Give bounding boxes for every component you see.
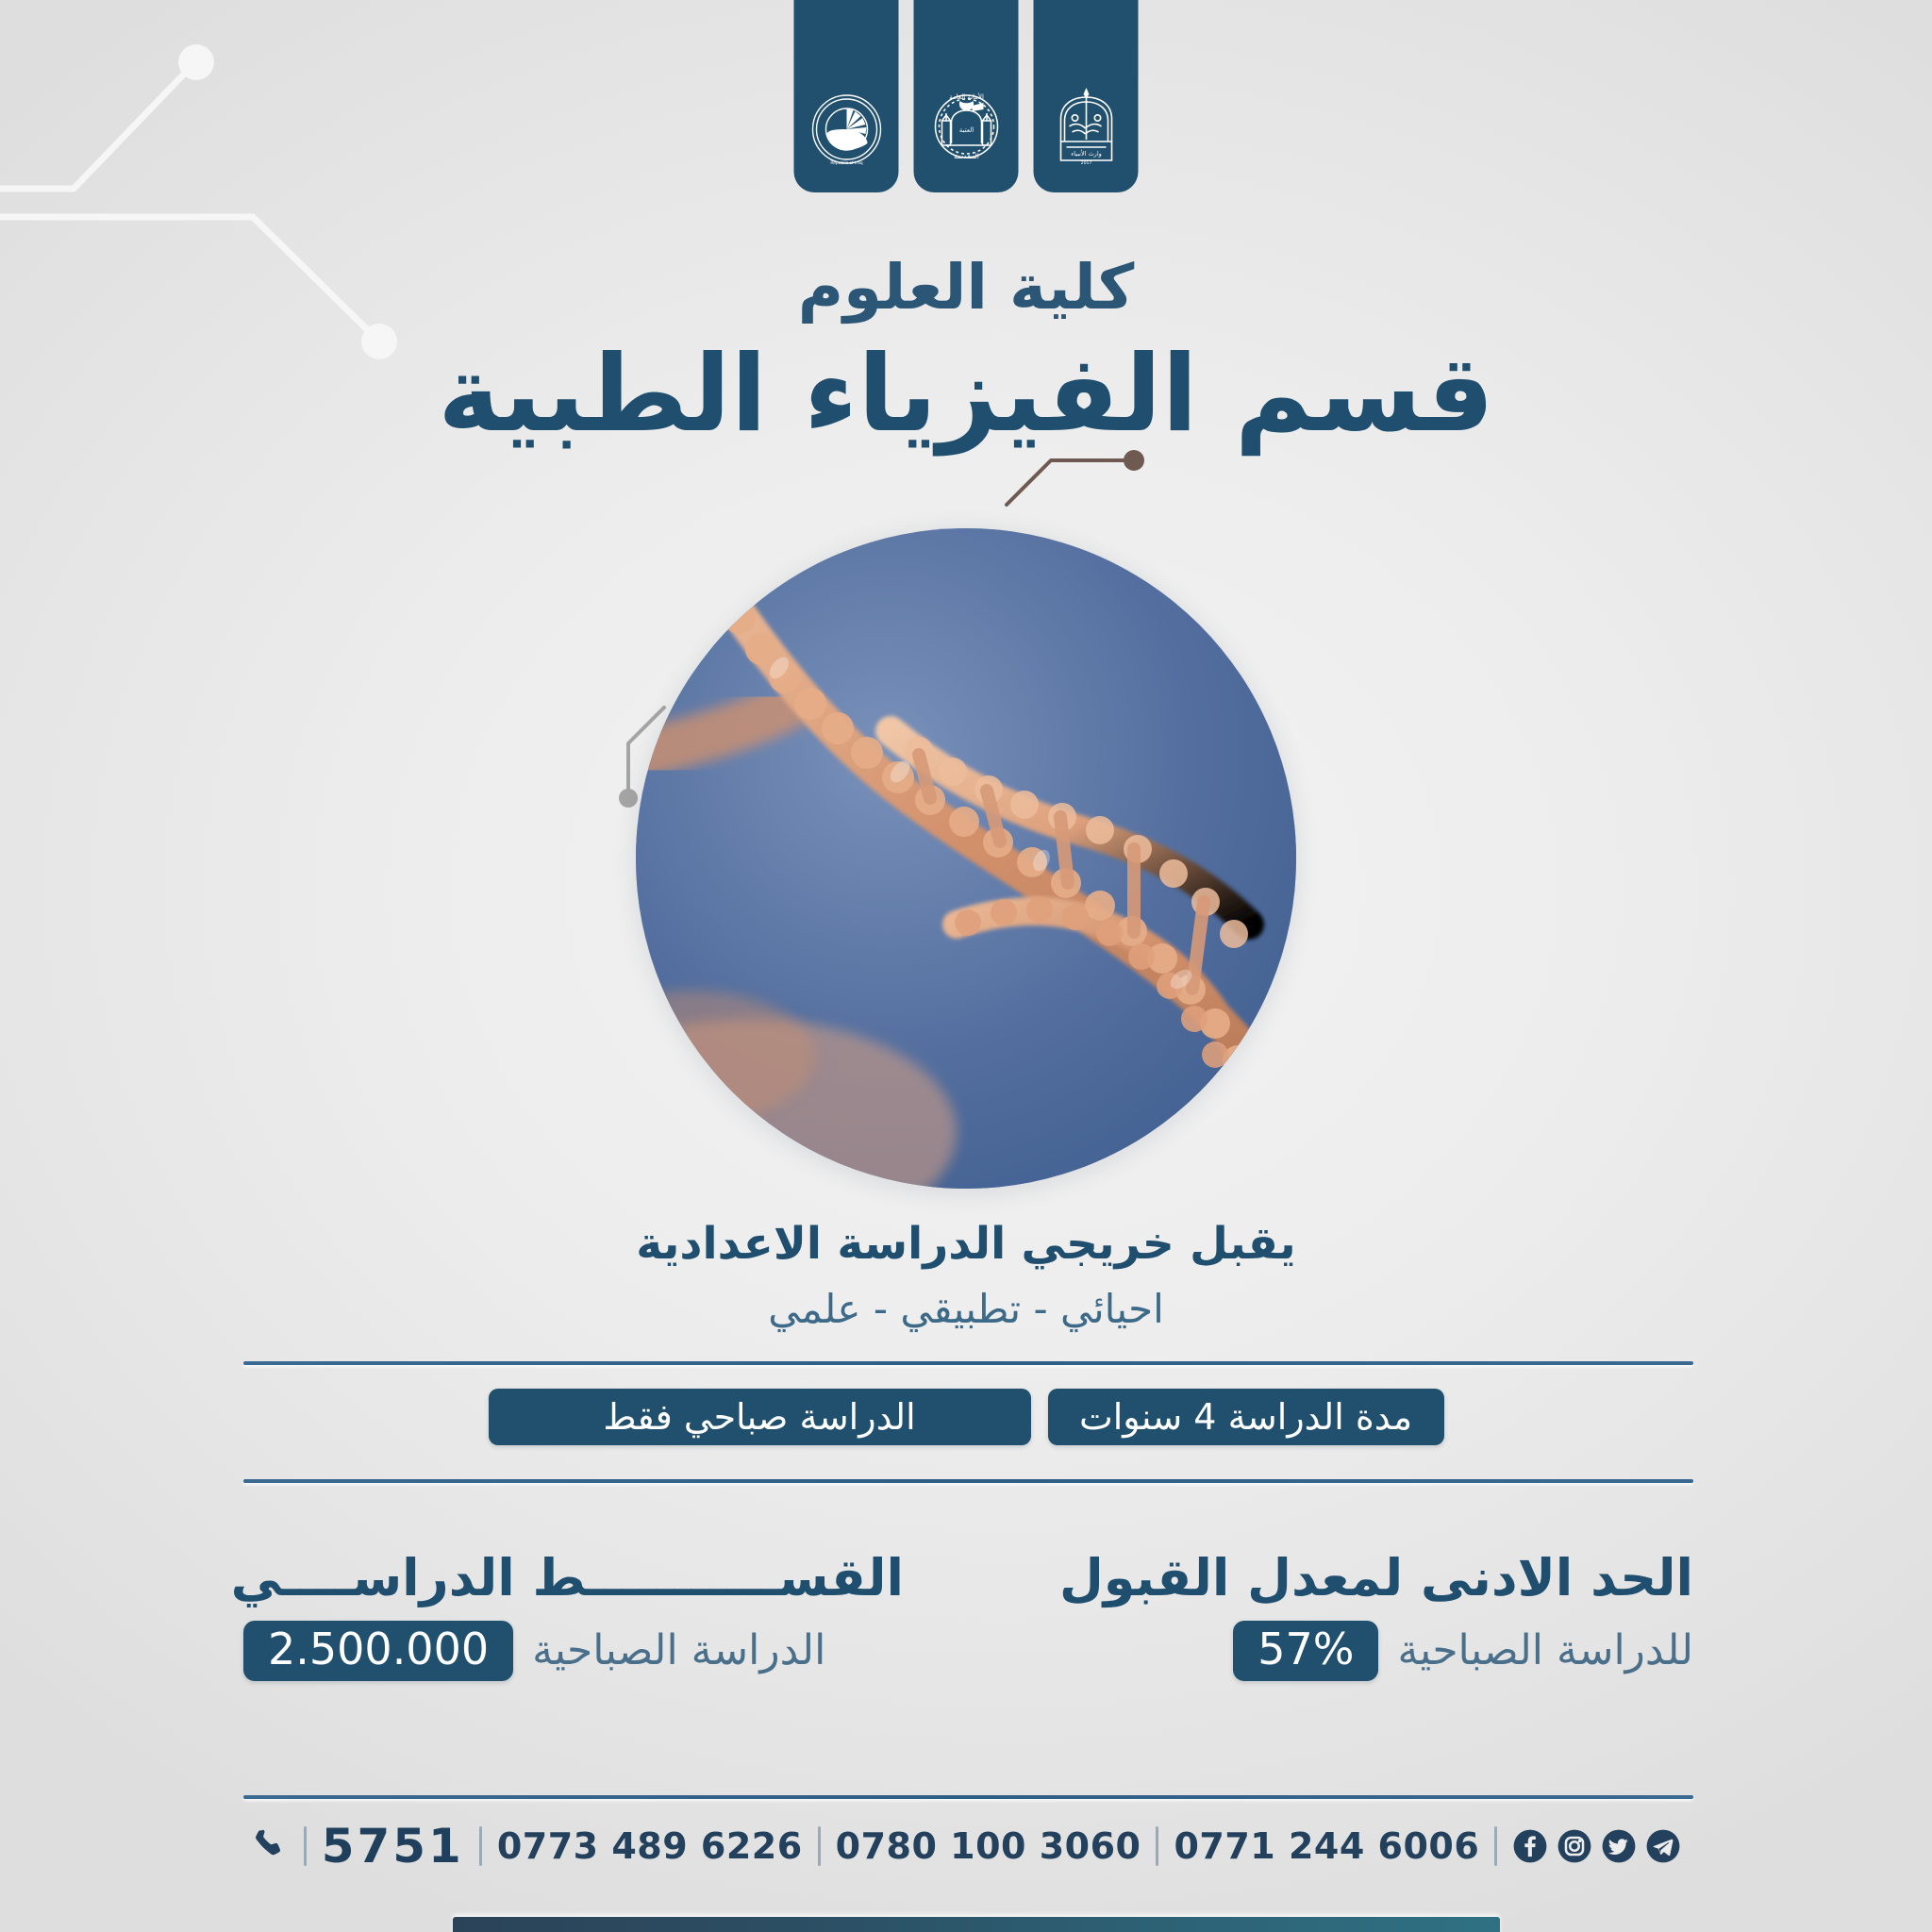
- accepts-branches: احيائي - تطبيقي - علمي: [0, 1290, 1932, 1329]
- tuition-label: الدراسة الصباحية: [532, 1626, 825, 1674]
- svg-text:العتبة: العتبة: [958, 126, 973, 134]
- logo-badge-university: وارث الأنبياء 2017: [1034, 0, 1139, 192]
- min-average-line: للدراسة الصباحية 57%: [1033, 1621, 1693, 1682]
- min-average-title: الحد الادنى لمعدل القبول: [1033, 1552, 1693, 1606]
- department-name: قسم الفيزياء الطبية: [0, 340, 1932, 451]
- phone-number[interactable]: 0771 244 6006: [1174, 1825, 1479, 1867]
- morning-study-only-pill[interactable]: الدراسة صباحي فقط: [489, 1389, 1031, 1445]
- svg-text:2017: 2017: [1080, 160, 1091, 166]
- contact-separator: [1156, 1826, 1158, 1866]
- svg-text:Republic of Iraq: Republic of Iraq: [830, 160, 863, 166]
- logo-badge-ataba: العتبة المقدسة الأمانة العامة: [914, 0, 1019, 192]
- ministry-of-higher-education-iraq-logo: Republic of Iraq: [808, 91, 884, 168]
- logo-bar: وارث الأنبياء 2017: [794, 0, 1139, 192]
- tuition-line: الدراسة الصباحية 2.500.000: [243, 1621, 904, 1682]
- instagram-icon[interactable]: [1557, 1828, 1592, 1864]
- pill-row: مدة الدراسة 4 سنوات الدراسة صباحي فقط: [0, 1389, 1932, 1445]
- divider-middle: [243, 1479, 1693, 1483]
- facebook-icon[interactable]: [1512, 1828, 1548, 1864]
- decorative-circuit-lines: [0, 0, 491, 396]
- logo-badge-ministry: Republic of Iraq: [794, 0, 899, 192]
- phone-number[interactable]: 0780 100 3060: [836, 1825, 1141, 1867]
- contact-separator: [479, 1826, 482, 1866]
- svg-text:المقدسة: المقدسة: [954, 152, 979, 160]
- divider-bottom: [243, 1795, 1693, 1799]
- twitter-icon[interactable]: [1601, 1828, 1637, 1864]
- min-average-block: الحد الادنى لمعدل القبول للدراسة الصباحي…: [1033, 1552, 1693, 1681]
- phone-icon: [251, 1825, 289, 1867]
- min-average-value-badge: 57%: [1233, 1621, 1378, 1682]
- college-name: كلية العلوم: [0, 257, 1932, 319]
- hotline-number[interactable]: 5751: [322, 1819, 464, 1874]
- accepts-heading: يقبل خريجي الدراسة الاعدادية: [0, 1222, 1932, 1266]
- footer-accent-bar: [453, 1917, 1500, 1932]
- tuition-value-badge: 2.500.000: [243, 1621, 513, 1682]
- svg-text:الأمانة العامة: الأمانة العامة: [949, 92, 984, 101]
- contact-separator: [1494, 1826, 1497, 1866]
- university-of-warith-al-anbiya-logo: وارث الأنبياء 2017: [1051, 85, 1121, 168]
- hero-image-area: [636, 528, 1296, 1189]
- tuition-block: القســـــــــــط الدراســــي الدراسة الص…: [243, 1552, 904, 1681]
- contact-separator: [818, 1826, 821, 1866]
- al-ataba-al-abbasiya-logo: العتبة المقدسة الأمانة العامة: [928, 85, 1004, 168]
- poster-canvas: وارث الأنبياء 2017: [0, 0, 1932, 1932]
- study-duration-pill[interactable]: مدة الدراسة 4 سنوات: [1048, 1389, 1444, 1445]
- telegram-icon[interactable]: [1645, 1828, 1681, 1864]
- phone-number[interactable]: 0773 489 6226: [497, 1825, 803, 1867]
- tuition-title: القســـــــــــط الدراســــي: [243, 1552, 904, 1606]
- svg-text:وارث الأنبياء: وارث الأنبياء: [1071, 149, 1102, 158]
- social-icons: [1512, 1828, 1681, 1864]
- contact-separator: [304, 1826, 307, 1866]
- min-average-label: للدراسة الصباحية: [1397, 1626, 1693, 1674]
- info-row: الحد الادنى لمعدل القبول للدراسة الصباحي…: [243, 1552, 1693, 1681]
- dna-double-helix-photo: [636, 528, 1296, 1189]
- contact-strip: 5751 0773 489 6226 0780 100 3060 0771 24…: [0, 1819, 1932, 1874]
- divider-top: [243, 1361, 1693, 1365]
